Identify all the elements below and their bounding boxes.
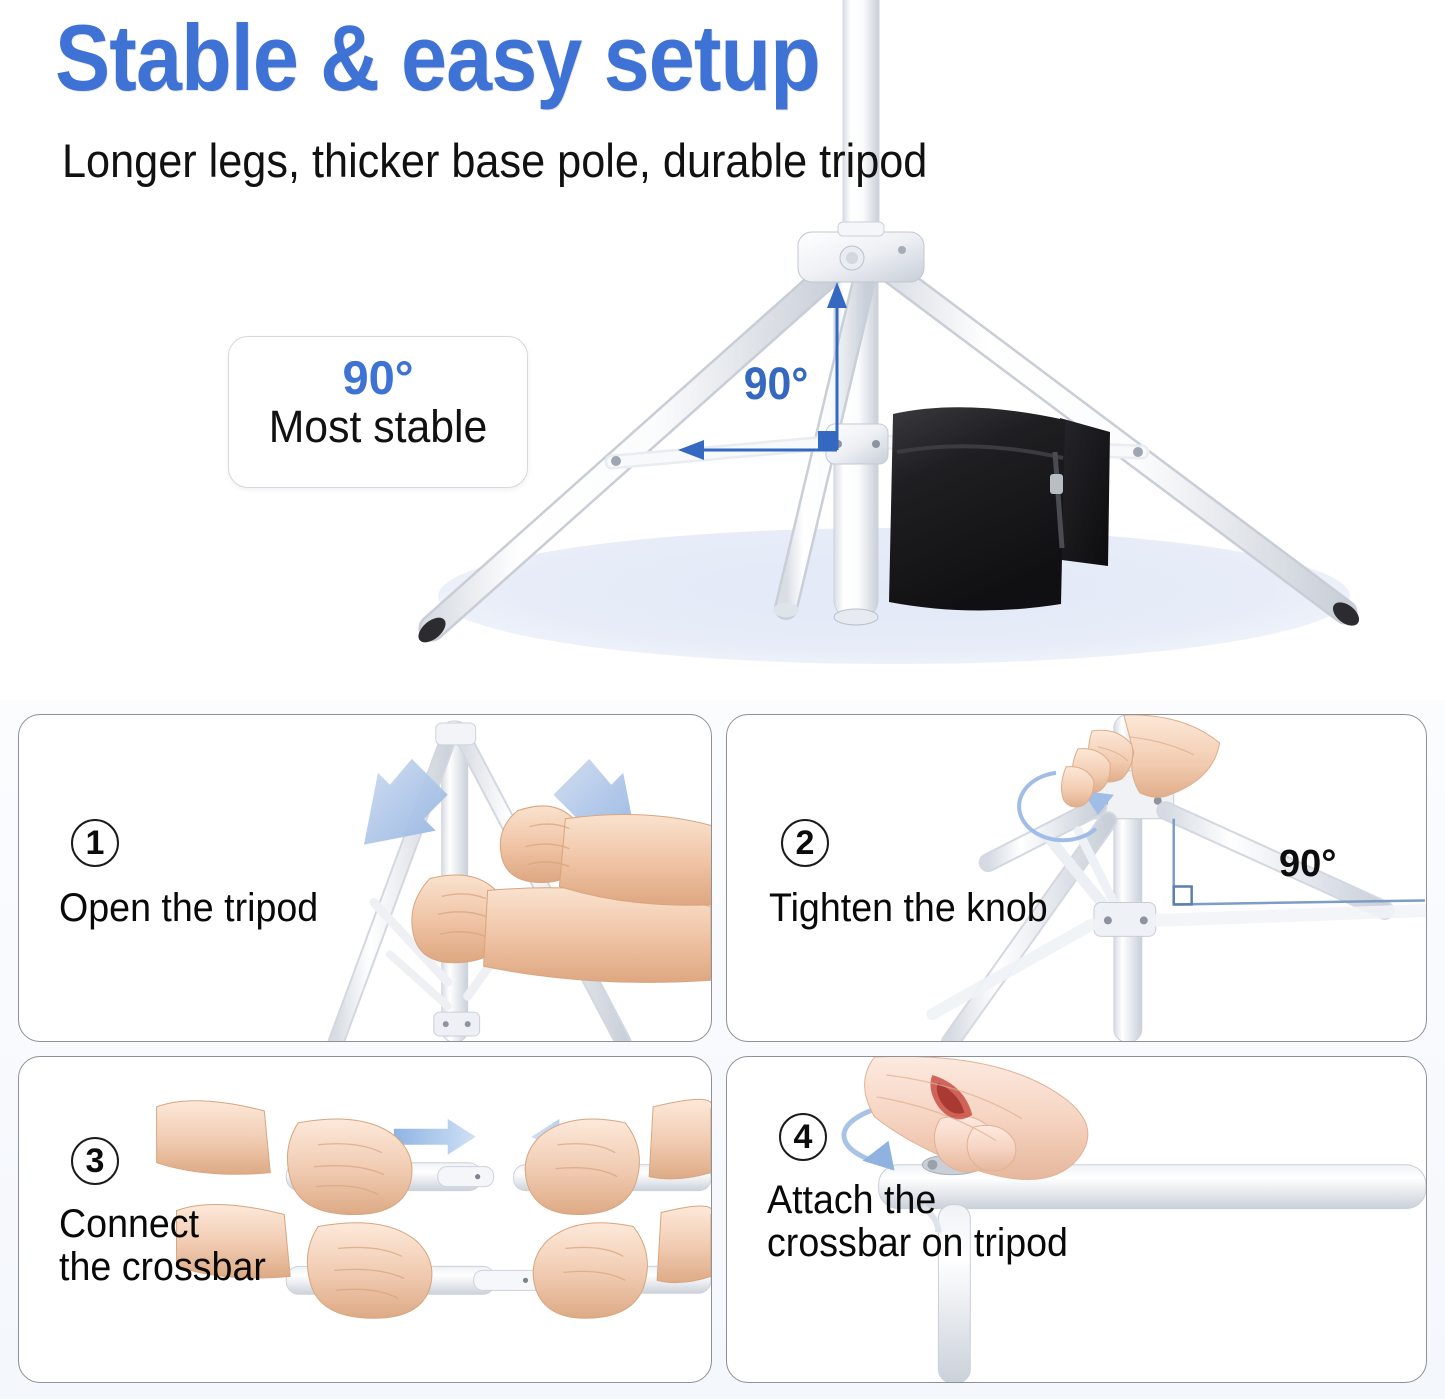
infographic-page: 90° 90° Most stable Stable & easy setup … xyxy=(0,0,1445,1399)
step-card-4: 4 Attach the crossbar on tripod xyxy=(726,1056,1427,1383)
setup-steps-section: 1 Open the tripod xyxy=(0,700,1445,1399)
callout-caption: Most stable xyxy=(236,402,519,452)
step-card-3: 3 Connect the crossbar xyxy=(18,1056,712,1383)
step-label-4: Attach the crossbar on tripod xyxy=(767,1179,1162,1265)
step-number-3: 3 xyxy=(71,1137,119,1185)
most-stable-callout: 90° Most stable xyxy=(228,336,528,488)
step-card-2: 2 Tighten the knob 90° xyxy=(726,714,1427,1042)
tripod-legs-icon xyxy=(19,715,711,1042)
step-number-2: 2 xyxy=(781,819,829,867)
page-subtitle: Longer legs, thicker base pole, durable … xyxy=(62,133,927,188)
step-number-1: 1 xyxy=(71,819,119,867)
step-card-1: 1 Open the tripod xyxy=(18,714,712,1042)
step2-angle-label: 90° xyxy=(1279,843,1336,886)
step-label-1: Open the tripod xyxy=(59,887,350,930)
step-number-4: 4 xyxy=(779,1113,827,1161)
hero-section: 90° 90° Most stable Stable & easy setup … xyxy=(0,0,1445,700)
callout-degrees: 90° xyxy=(229,353,527,402)
step-label-2: Tighten the knob xyxy=(769,887,1098,930)
step-label-3: Connect the crossbar xyxy=(59,1203,341,1289)
hero-angle-label: 90° xyxy=(744,358,809,410)
page-title: Stable & easy setup xyxy=(55,4,820,112)
